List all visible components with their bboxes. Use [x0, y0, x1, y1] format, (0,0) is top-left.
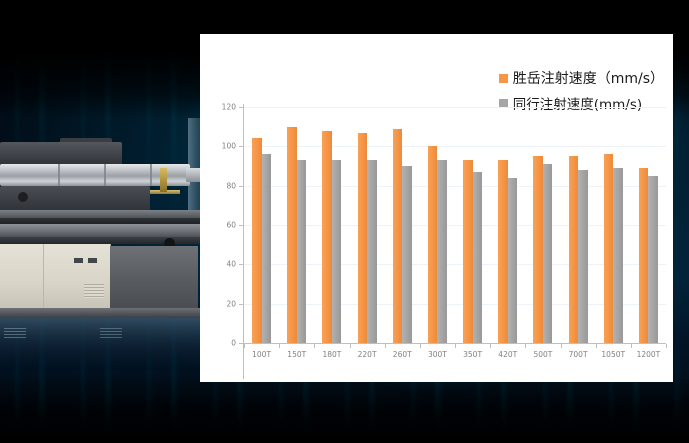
x-axis-tick: [314, 344, 315, 348]
machine-guard-panel: [110, 246, 198, 308]
machine-knob: [18, 192, 28, 202]
grid-line: [244, 186, 666, 187]
machine-bench-edge: [0, 237, 215, 244]
machine-barrel-seam: [104, 164, 106, 186]
x-axis-tick-label-220T: 220T: [358, 350, 377, 359]
y-axis-tick-label: 60: [226, 221, 236, 230]
y-axis-tick-label: 120: [222, 103, 236, 112]
x-axis-tick: [350, 344, 351, 348]
machine-motor: [0, 142, 122, 166]
machine-bench-top: [0, 224, 215, 237]
y-axis-tick-label: 0: [231, 339, 236, 348]
machine-button: [74, 258, 83, 263]
x-axis-tick: [561, 344, 562, 348]
y-axis-tick-label: 20: [226, 299, 236, 308]
machine-barrel-seam: [150, 164, 152, 186]
bar-700T-series-0: [569, 156, 579, 343]
grid-line: [244, 146, 666, 147]
x-axis-tick: [525, 344, 526, 348]
machine-reflection-lines: [100, 328, 122, 340]
bar-1050T-series-1: [613, 168, 623, 343]
x-axis-tick: [490, 344, 491, 348]
x-axis-tick-label-300T: 300T: [428, 350, 447, 359]
bar-150T-series-1: [297, 160, 307, 343]
x-axis-tick-label-420T: 420T: [498, 350, 517, 359]
x-axis-tick-label-500T: 500T: [533, 350, 552, 359]
x-axis-tick-label-1050T: 1050T: [601, 350, 625, 359]
bar-420T-series-0: [498, 160, 508, 343]
machine-brass-block: [160, 168, 167, 192]
bar-100T-series-0: [252, 138, 262, 343]
bar-1200T-series-0: [639, 168, 649, 343]
injection-molding-machine-photo: [0, 138, 215, 378]
machine-button: [88, 258, 97, 263]
x-axis-tick: [631, 344, 632, 348]
bar-420T-series-1: [508, 178, 518, 343]
bar-350T-series-1: [473, 172, 483, 343]
machine-vent-grille: [84, 284, 104, 298]
y-axis-line: [243, 104, 244, 379]
bar-180T-series-0: [322, 131, 332, 343]
bar-180T-series-1: [332, 160, 342, 343]
grid-line: [244, 264, 666, 265]
machine-base: [0, 308, 215, 318]
machine-cabinet-seam: [43, 244, 44, 310]
x-axis-tick: [455, 344, 456, 348]
bar-260T-series-1: [402, 166, 412, 343]
machine-control-cabinet: [0, 244, 111, 310]
x-axis-tick-label-1200T: 1200T: [637, 350, 661, 359]
x-axis-tick-label-180T: 180T: [322, 350, 341, 359]
bar-500T-series-1: [543, 164, 553, 343]
x-axis-tick-label-350T: 350T: [463, 350, 482, 359]
legend-label-series-0: 胜岳注射速度（mm/s）: [513, 68, 664, 88]
bar-300T-series-1: [437, 160, 447, 343]
bar-220T-series-0: [358, 133, 368, 343]
x-axis-tick: [385, 344, 386, 348]
bar-1050T-series-0: [604, 154, 614, 343]
bar-300T-series-0: [428, 146, 438, 343]
y-axis-tick-label: 80: [226, 181, 236, 190]
bar-220T-series-1: [367, 160, 377, 343]
machine-floor-reflection: [0, 318, 215, 374]
bar-100T-series-1: [262, 154, 272, 343]
x-axis-tick: [420, 344, 421, 348]
bar-1200T-series-1: [648, 176, 658, 343]
bar-350T-series-0: [463, 160, 473, 343]
bar-500T-series-0: [533, 156, 543, 343]
grid-line: [244, 107, 666, 108]
legend-item-series-1: 同行注射速度(mm/s): [499, 93, 642, 113]
legend-item-series-0: 胜岳注射速度（mm/s）: [499, 68, 664, 88]
chart-card: 胜岳注射速度（mm/s） 同行注射速度(mm/s) 02040608010012…: [200, 34, 673, 382]
legend-swatch-series-0: [499, 74, 508, 83]
x-axis-tick: [666, 344, 667, 348]
bar-chart: 胜岳注射速度（mm/s） 同行注射速度(mm/s) 02040608010012…: [200, 34, 673, 382]
bar-150T-series-0: [287, 127, 297, 343]
y-axis-tick-label: 100: [222, 142, 236, 151]
grid-line: [244, 225, 666, 226]
x-axis-tick-label-700T: 700T: [569, 350, 588, 359]
slide-canvas: 胜岳注射速度（mm/s） 同行注射速度(mm/s) 02040608010012…: [0, 0, 689, 443]
machine-barrel-seam: [58, 164, 60, 186]
x-axis-tick: [279, 344, 280, 348]
x-axis-tick-label-260T: 260T: [393, 350, 412, 359]
y-axis-tick-label: 40: [226, 260, 236, 269]
bar-260T-series-0: [393, 129, 403, 343]
machine-reflection-lines: [4, 328, 26, 340]
legend-label-series-1: 同行注射速度(mm/s): [513, 93, 642, 113]
grid-line: [244, 304, 666, 305]
x-axis-tick: [244, 344, 245, 348]
bar-700T-series-1: [578, 170, 588, 343]
x-axis-tick-label-100T: 100T: [252, 350, 271, 359]
x-axis-tick: [596, 344, 597, 348]
x-axis-tick-label-150T: 150T: [287, 350, 306, 359]
